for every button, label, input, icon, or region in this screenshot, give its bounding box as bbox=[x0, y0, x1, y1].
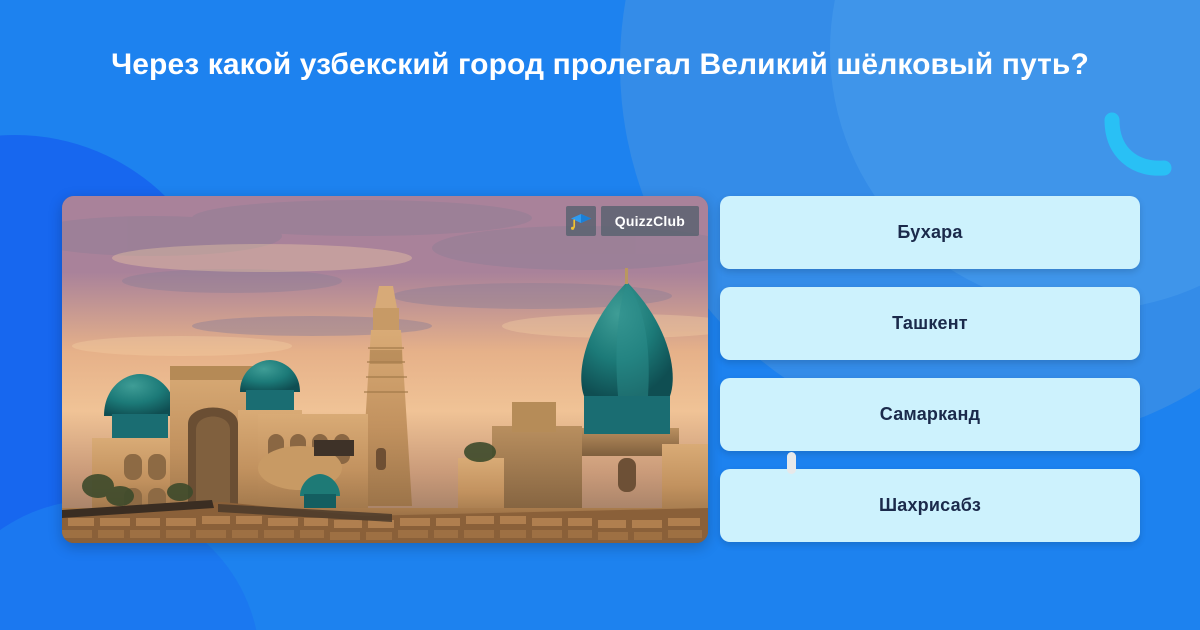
city-skyline-illustration bbox=[62, 196, 708, 543]
swoosh-arc-icon bbox=[1098, 112, 1178, 184]
watermark-label: QuizzClub bbox=[601, 206, 699, 236]
answer-option-1[interactable]: Бухара bbox=[720, 196, 1140, 269]
answer-option-2[interactable]: Ташкент bbox=[720, 287, 1140, 360]
scrollbar-thumb[interactable] bbox=[787, 452, 796, 474]
question-image: QuizzClub bbox=[62, 196, 708, 543]
answer-options-list: Бухара Ташкент Самарканд Шахрисабз bbox=[720, 196, 1140, 542]
answer-option-3[interactable]: Самарканд bbox=[720, 378, 1140, 451]
question-title: Через какой узбекский город пролегал Вел… bbox=[60, 44, 1140, 85]
answer-option-4[interactable]: Шахрисабз bbox=[720, 469, 1140, 542]
quiz-card: Через какой узбекский город пролегал Вел… bbox=[0, 0, 1200, 630]
graduation-cap-icon bbox=[566, 206, 596, 236]
watermark-badge: QuizzClub bbox=[566, 206, 699, 236]
